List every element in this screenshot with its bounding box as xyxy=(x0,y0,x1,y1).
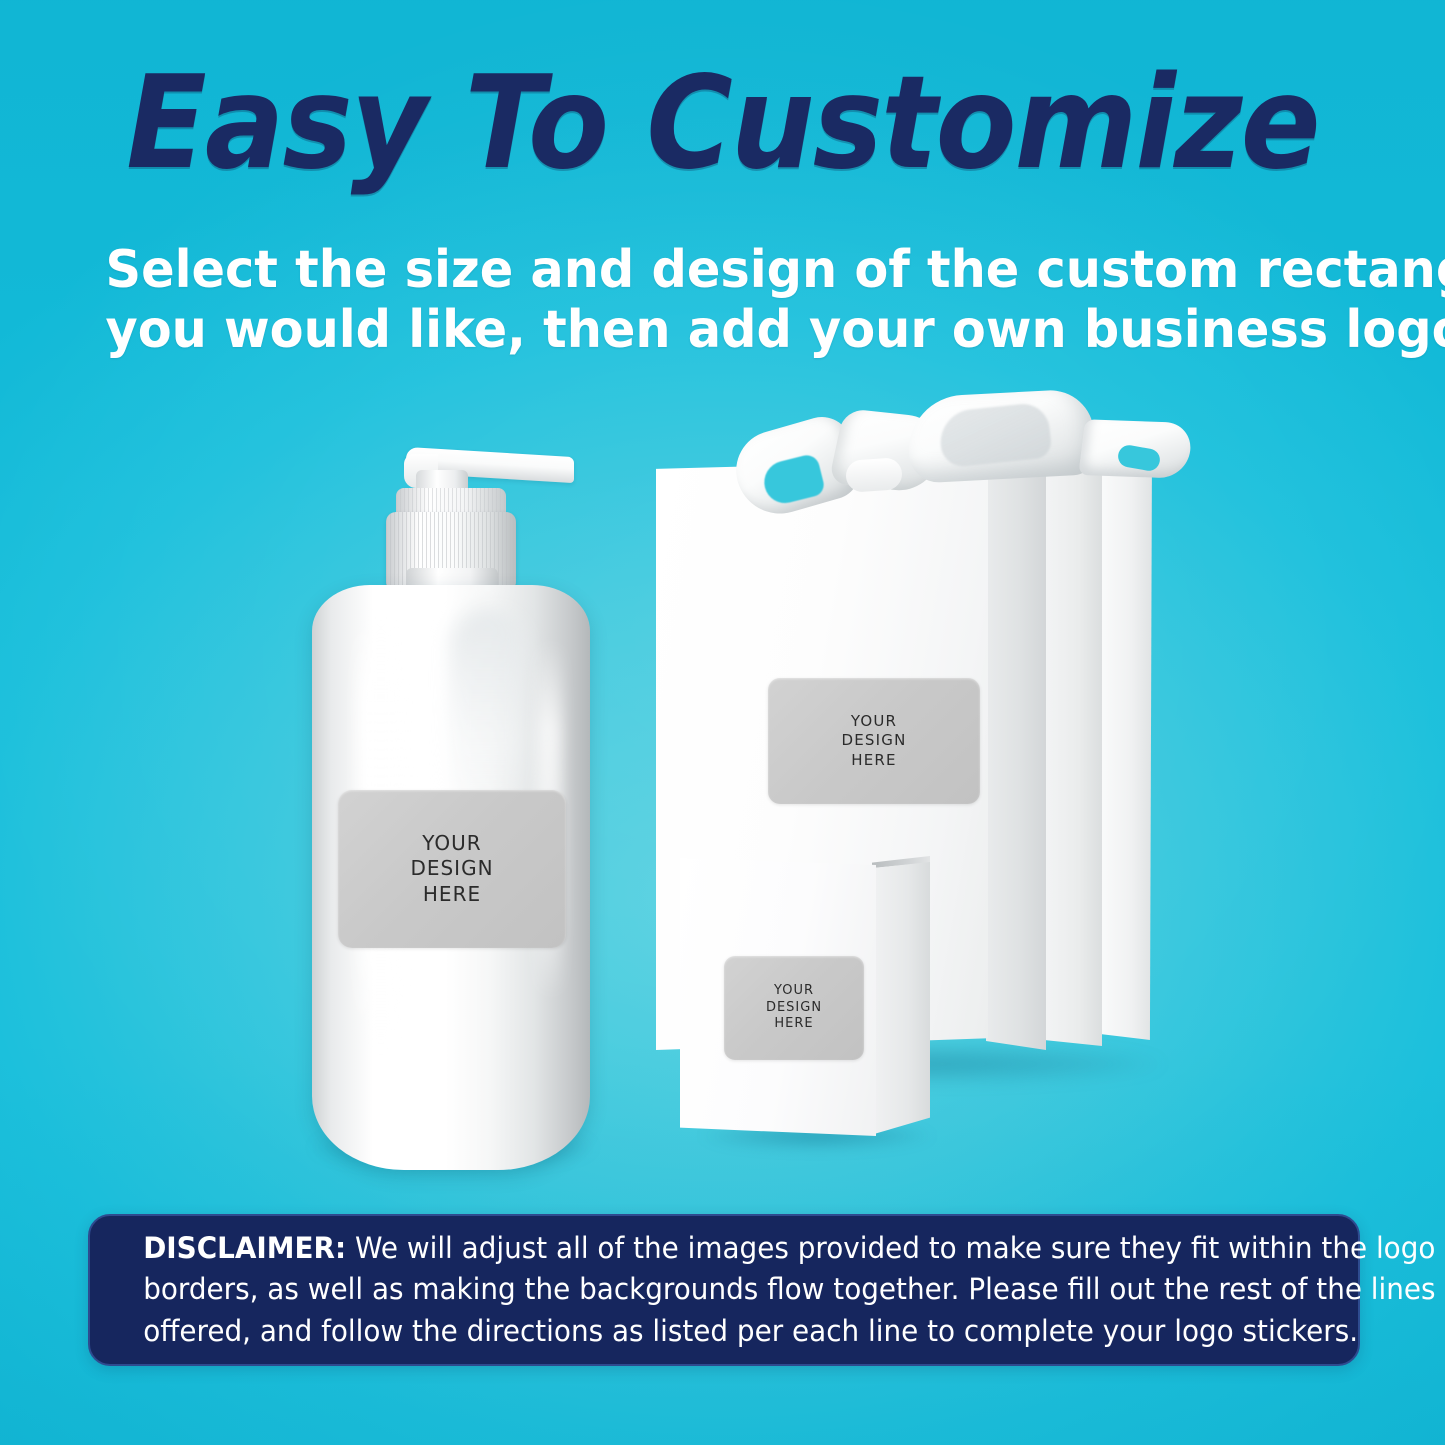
gift-box-side-panel-3 xyxy=(1100,446,1152,1040)
bottle-sticker: YOUR DESIGN HERE xyxy=(338,790,566,948)
gift-box-side-panel-2 xyxy=(1044,448,1102,1046)
disclaimer-line-1: DISCLAIMER: We will adjust all of the im… xyxy=(143,1228,1305,1269)
pump-bottle-mockup: YOUR DESIGN HERE xyxy=(300,440,600,1170)
disclaimer-line-3: offered, and follow the directions as li… xyxy=(143,1311,1305,1352)
small-box-sticker: YOUR DESIGN HERE xyxy=(724,956,864,1060)
small-box-sticker-line-3: HERE xyxy=(774,1016,813,1033)
gift-box-sticker-line-2: DESIGN xyxy=(841,731,906,750)
small-box-mockup: YOUR DESIGN HERE xyxy=(680,848,950,1148)
headline-container: Easy To Customize xyxy=(0,60,1445,188)
gift-box-sticker: YOUR DESIGN HERE xyxy=(768,678,980,804)
bottle-sticker-line-1: YOUR xyxy=(422,831,481,857)
bottle-sticker-line-2: DESIGN xyxy=(410,856,493,882)
page-title: Easy To Customize xyxy=(58,60,1387,188)
small-box-sticker-line-2: DESIGN xyxy=(766,1000,822,1017)
promo-graphic: Easy To Customize Select the size and de… xyxy=(0,0,1445,1445)
disclaimer-text-container: DISCLAIMER: We will adjust all of the im… xyxy=(119,1228,1329,1352)
gift-box-sticker-line-3: HERE xyxy=(851,751,896,770)
small-box-sticker-line-1: YOUR xyxy=(774,983,814,1000)
bow-knot xyxy=(845,457,903,493)
disclaimer-line-1-rest: We will adjust all of the images provide… xyxy=(346,1231,1435,1265)
gift-box-side-panel-1 xyxy=(986,450,1046,1050)
small-box-side-panel xyxy=(874,862,930,1134)
disclaimer-line-2: borders, as well as making the backgroun… xyxy=(143,1269,1305,1310)
ribbon-bow xyxy=(640,385,1220,515)
subtitle-container: Select the size and design of the custom… xyxy=(73,240,1373,361)
disclaimer-panel: DISCLAIMER: We will adjust all of the im… xyxy=(88,1214,1360,1366)
bottle-sticker-line-3: HERE xyxy=(423,882,481,908)
gift-box-sticker-line-1: YOUR xyxy=(851,712,897,731)
subtitle-line-1: Select the size and design of the custom… xyxy=(105,240,1340,300)
subtitle-line-2: you would like, then add your own busine… xyxy=(105,300,1340,360)
disclaimer-label: DISCLAIMER: xyxy=(143,1231,346,1265)
